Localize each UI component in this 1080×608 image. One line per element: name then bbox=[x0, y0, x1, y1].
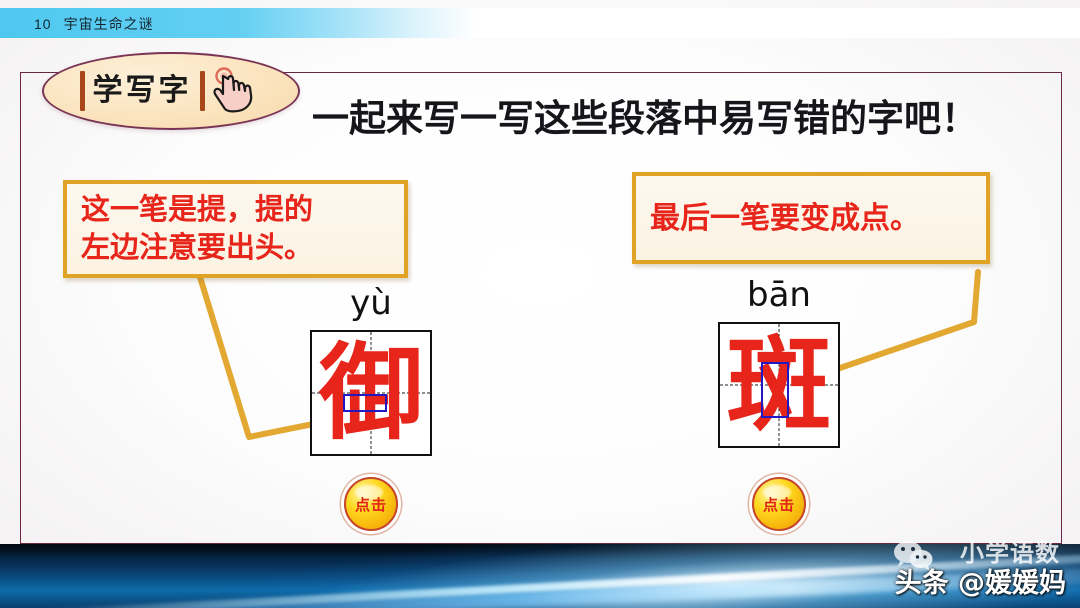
pinyin-right: bān bbox=[718, 278, 840, 316]
callout-left-line1: 这一笔是提，提的 bbox=[81, 191, 390, 229]
tianzige-grid-left: 御 bbox=[310, 330, 432, 456]
tianzige-grid-right: 斑 bbox=[718, 322, 840, 448]
callout-left-line2: 左边注意要出头。 bbox=[81, 229, 390, 267]
callout-right-line1: 最后一笔要变成点。 bbox=[650, 199, 972, 238]
callout-right-text: 最后一笔要变成点。 bbox=[636, 199, 986, 238]
callout-left-text: 这一笔是提，提的 左边注意要出头。 bbox=[67, 191, 404, 266]
stroke-highlight-left bbox=[343, 394, 387, 412]
badge-divider-right-icon bbox=[200, 71, 205, 111]
slide-root: 10宇宙生命之谜 学写字 一起来写一写这些段落中易写错的字吧！ 这一笔是提，提的 bbox=[0, 0, 1080, 608]
page-headline: 一起来写一写这些段落中易写错的字吧！ bbox=[312, 88, 1052, 142]
character-block-ban: bān 斑 bbox=[718, 278, 840, 448]
badge-label: 学写字 bbox=[93, 76, 192, 106]
click-button-right-label: 点击 bbox=[763, 494, 795, 515]
learn-to-write-badge[interactable]: 学写字 bbox=[42, 52, 300, 130]
pointing-hand-tap-icon bbox=[209, 67, 263, 115]
hanzi-left: 御 bbox=[312, 332, 430, 454]
stroke-highlight-right bbox=[761, 362, 789, 418]
click-button-left[interactable]: 点击 bbox=[344, 477, 398, 531]
callout-box-left: 这一笔是提，提的 左边注意要出头。 bbox=[63, 180, 408, 278]
click-button-right[interactable]: 点击 bbox=[752, 477, 806, 531]
badge-inner: 学写字 bbox=[44, 54, 298, 128]
character-block-yu: yù 御 bbox=[310, 286, 432, 456]
watermark-handle: 头条 @媛媛妈 bbox=[895, 561, 1066, 600]
badge-divider-left-icon bbox=[80, 71, 85, 111]
callout-box-right: 最后一笔要变成点。 bbox=[632, 172, 990, 264]
click-button-left-label: 点击 bbox=[355, 494, 387, 515]
pinyin-left: yù bbox=[310, 286, 432, 324]
